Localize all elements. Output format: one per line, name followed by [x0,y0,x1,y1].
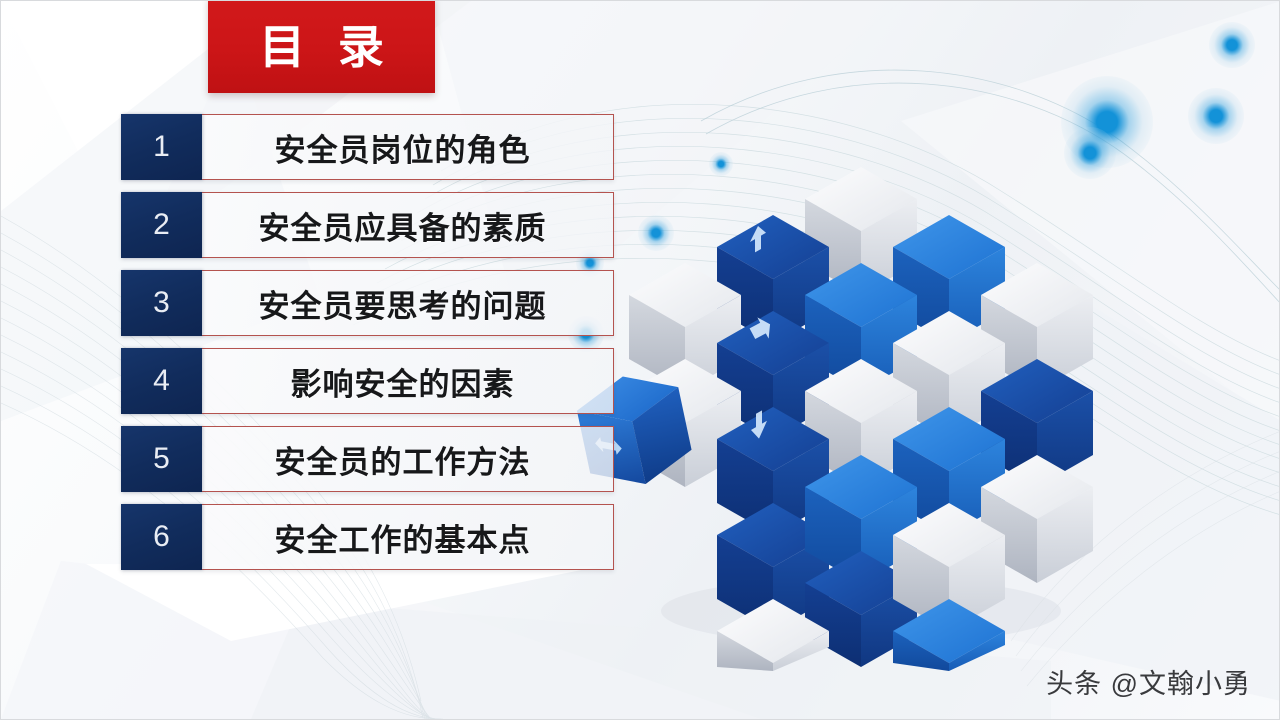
toc-item-2[interactable]: 2 安全员应具备的素质 [121,192,614,258]
toc-item-label: 安全工作的基本点 [202,505,613,569]
toc-item-label: 影响安全的因素 [202,349,613,413]
toc-item-6[interactable]: 6 安全工作的基本点 [121,504,614,570]
toc-item-label: 安全员要思考的问题 [202,271,613,335]
toc-number-badge: 3 [121,270,202,336]
table-of-contents-list: 1 安全员岗位的角色 2 安全员应具备的素质 3 安全员要思考的问题 4 影响安… [121,114,614,582]
watermark-text: 头条 @文翰小勇 [1046,662,1251,701]
toc-item-1[interactable]: 1 安全员岗位的角色 [121,114,614,180]
toc-number-badge: 1 [121,114,202,180]
toc-number-badge: 6 [121,504,202,570]
toc-item-label: 安全员的工作方法 [202,427,613,491]
page-title: 目 录 [249,20,394,70]
toc-item-4[interactable]: 4 影响安全的因素 [121,348,614,414]
presentation-slide: 目 录 1 安全员岗位的角色 2 安全员应具备的素质 3 安全员要思考的问题 4… [0,0,1280,720]
toc-item-5[interactable]: 5 安全员的工作方法 [121,426,614,492]
toc-number-badge: 4 [121,348,202,414]
toc-number-badge: 5 [121,426,202,492]
toc-item-label: 安全员应具备的素质 [202,193,613,257]
toc-item-label: 安全员岗位的角色 [202,115,613,179]
toc-number-badge: 2 [121,192,202,258]
section-title-banner: 目 录 [208,0,435,93]
glow-dot [1209,22,1255,68]
toc-item-3[interactable]: 3 安全员要思考的问题 [121,270,614,336]
